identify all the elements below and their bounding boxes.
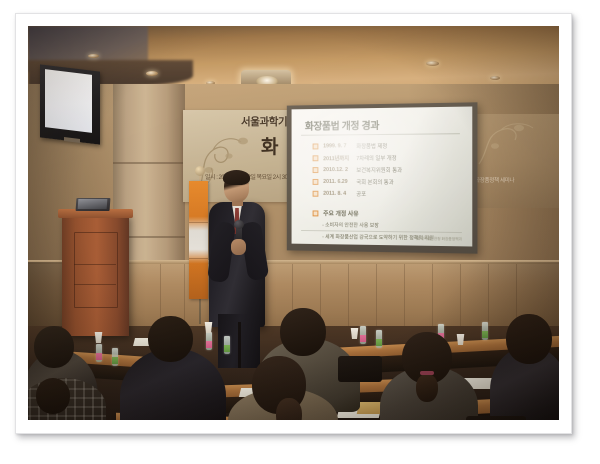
chair-silhouette: [338, 356, 382, 382]
standing-flag: [189, 181, 208, 299]
wainscot-slat: [404, 264, 405, 330]
bullet-square-icon: [313, 167, 319, 173]
ceiling-light-icon: [426, 61, 439, 66]
lectern-panel: [74, 232, 118, 308]
microphone-head-icon: [234, 220, 244, 229]
wainscot-slat: [376, 264, 377, 330]
bottle-label: [376, 339, 382, 346]
flag-fold: [189, 258, 208, 259]
bullet-square-icon: [313, 179, 319, 185]
laptop-screen: [78, 199, 108, 209]
audience-ponytail: [276, 398, 302, 420]
audience-head: [506, 314, 552, 364]
projection-screen: 화장품법 개정 경과 1999. 9. 7 화장품법 제정 2011년까지 7차…: [292, 107, 473, 247]
seminar-photo: 서울과학기술 화 일시 : 2011년 12월 2일 목요일 2시 30분 화장…: [28, 26, 559, 420]
flag-finial-icon: [195, 166, 205, 176]
bullet-square-icon: [313, 210, 319, 216]
bullet-text: 화장품법 제정: [356, 142, 387, 150]
bottle-label: [482, 331, 488, 338]
speaker-hair: [223, 170, 250, 185]
audience-ponytail: [416, 374, 438, 402]
speaker-leg-gap: [238, 322, 241, 368]
bullet-text: 공포: [356, 190, 366, 198]
chair-silhouette: [466, 416, 526, 420]
photo-frame: 서울과학기술 화 일시 : 2011년 12월 2일 목요일 2시 30분 화장…: [15, 13, 572, 434]
slide-bullet-row: 2011. 8. 4 공포: [313, 190, 366, 198]
audience-head: [280, 308, 326, 356]
bullet-square-icon: [313, 155, 319, 161]
bullet-date: 2011년까지: [323, 154, 356, 162]
bullet-date: 2010.12. 2: [323, 167, 356, 173]
ceiling-light-icon: [146, 71, 158, 76]
bullet-date: 2011. 8. 4: [323, 191, 356, 197]
bottle-label: [96, 353, 102, 360]
floral-vine-icon: [473, 116, 545, 168]
bottle-label: [360, 335, 366, 342]
ceiling-light-icon: [490, 76, 500, 80]
slide-section-heading-row: 주요 개정 사유: [313, 208, 359, 217]
pillar-seam: [113, 162, 185, 164]
wainscot-slat: [348, 264, 349, 330]
bottle-label: [224, 345, 230, 352]
bullet-text: 국회 본회의 통과: [356, 178, 393, 186]
bullet-square-icon: [313, 191, 319, 197]
bullet-square-icon: [313, 143, 319, 149]
banner-big-text: 화: [261, 132, 277, 159]
slide-footer-text: 식품의약품안전청 화장품정책과: [414, 236, 462, 242]
audience-head: [34, 326, 74, 368]
slide-bullet-row: 2011년까지 7차례의 일부 개정: [313, 154, 397, 162]
slide-title: 화장품법 개정 경과: [305, 117, 379, 133]
flag-fold: [189, 222, 208, 223]
bottle-label: [206, 341, 212, 348]
audience-hair-tie: [420, 371, 434, 375]
bullet-date: 2011. 6.29: [323, 179, 356, 185]
slide-bullet-row: 2010.12. 2 보건복지위원회 통과: [313, 166, 402, 174]
bullet-text: 7차례의 일부 개정: [356, 154, 396, 162]
slide-bullet-row: 2011. 6.29 국회 본회의 통과: [313, 178, 394, 186]
slide-sub-item: - 소비자의 안전한 사용 보장: [322, 221, 379, 229]
speaker-hands: [231, 239, 246, 255]
lectern-panel-line: [74, 264, 116, 265]
banner-right-text: 화장품정책 세미나: [475, 176, 514, 184]
bullet-text: 보건복지위원회 통과: [356, 166, 402, 174]
audience-head: [148, 316, 193, 362]
bottle-label: [112, 357, 118, 364]
slide-section-heading: 주요 개정 사유: [323, 209, 359, 218]
ceiling-light-icon: [88, 54, 99, 58]
wall-monitor-screen: [45, 69, 92, 133]
bullet-date: 1999. 9. 7: [323, 143, 356, 149]
slide-title-rule: [301, 133, 460, 136]
slide-bullet-row: 1999. 9. 7 화장품법 제정: [313, 142, 388, 150]
event-banner-right: 화장품정책 세미나: [465, 114, 559, 208]
audience-head: [36, 378, 70, 414]
lectern-panel-line: [74, 284, 116, 285]
